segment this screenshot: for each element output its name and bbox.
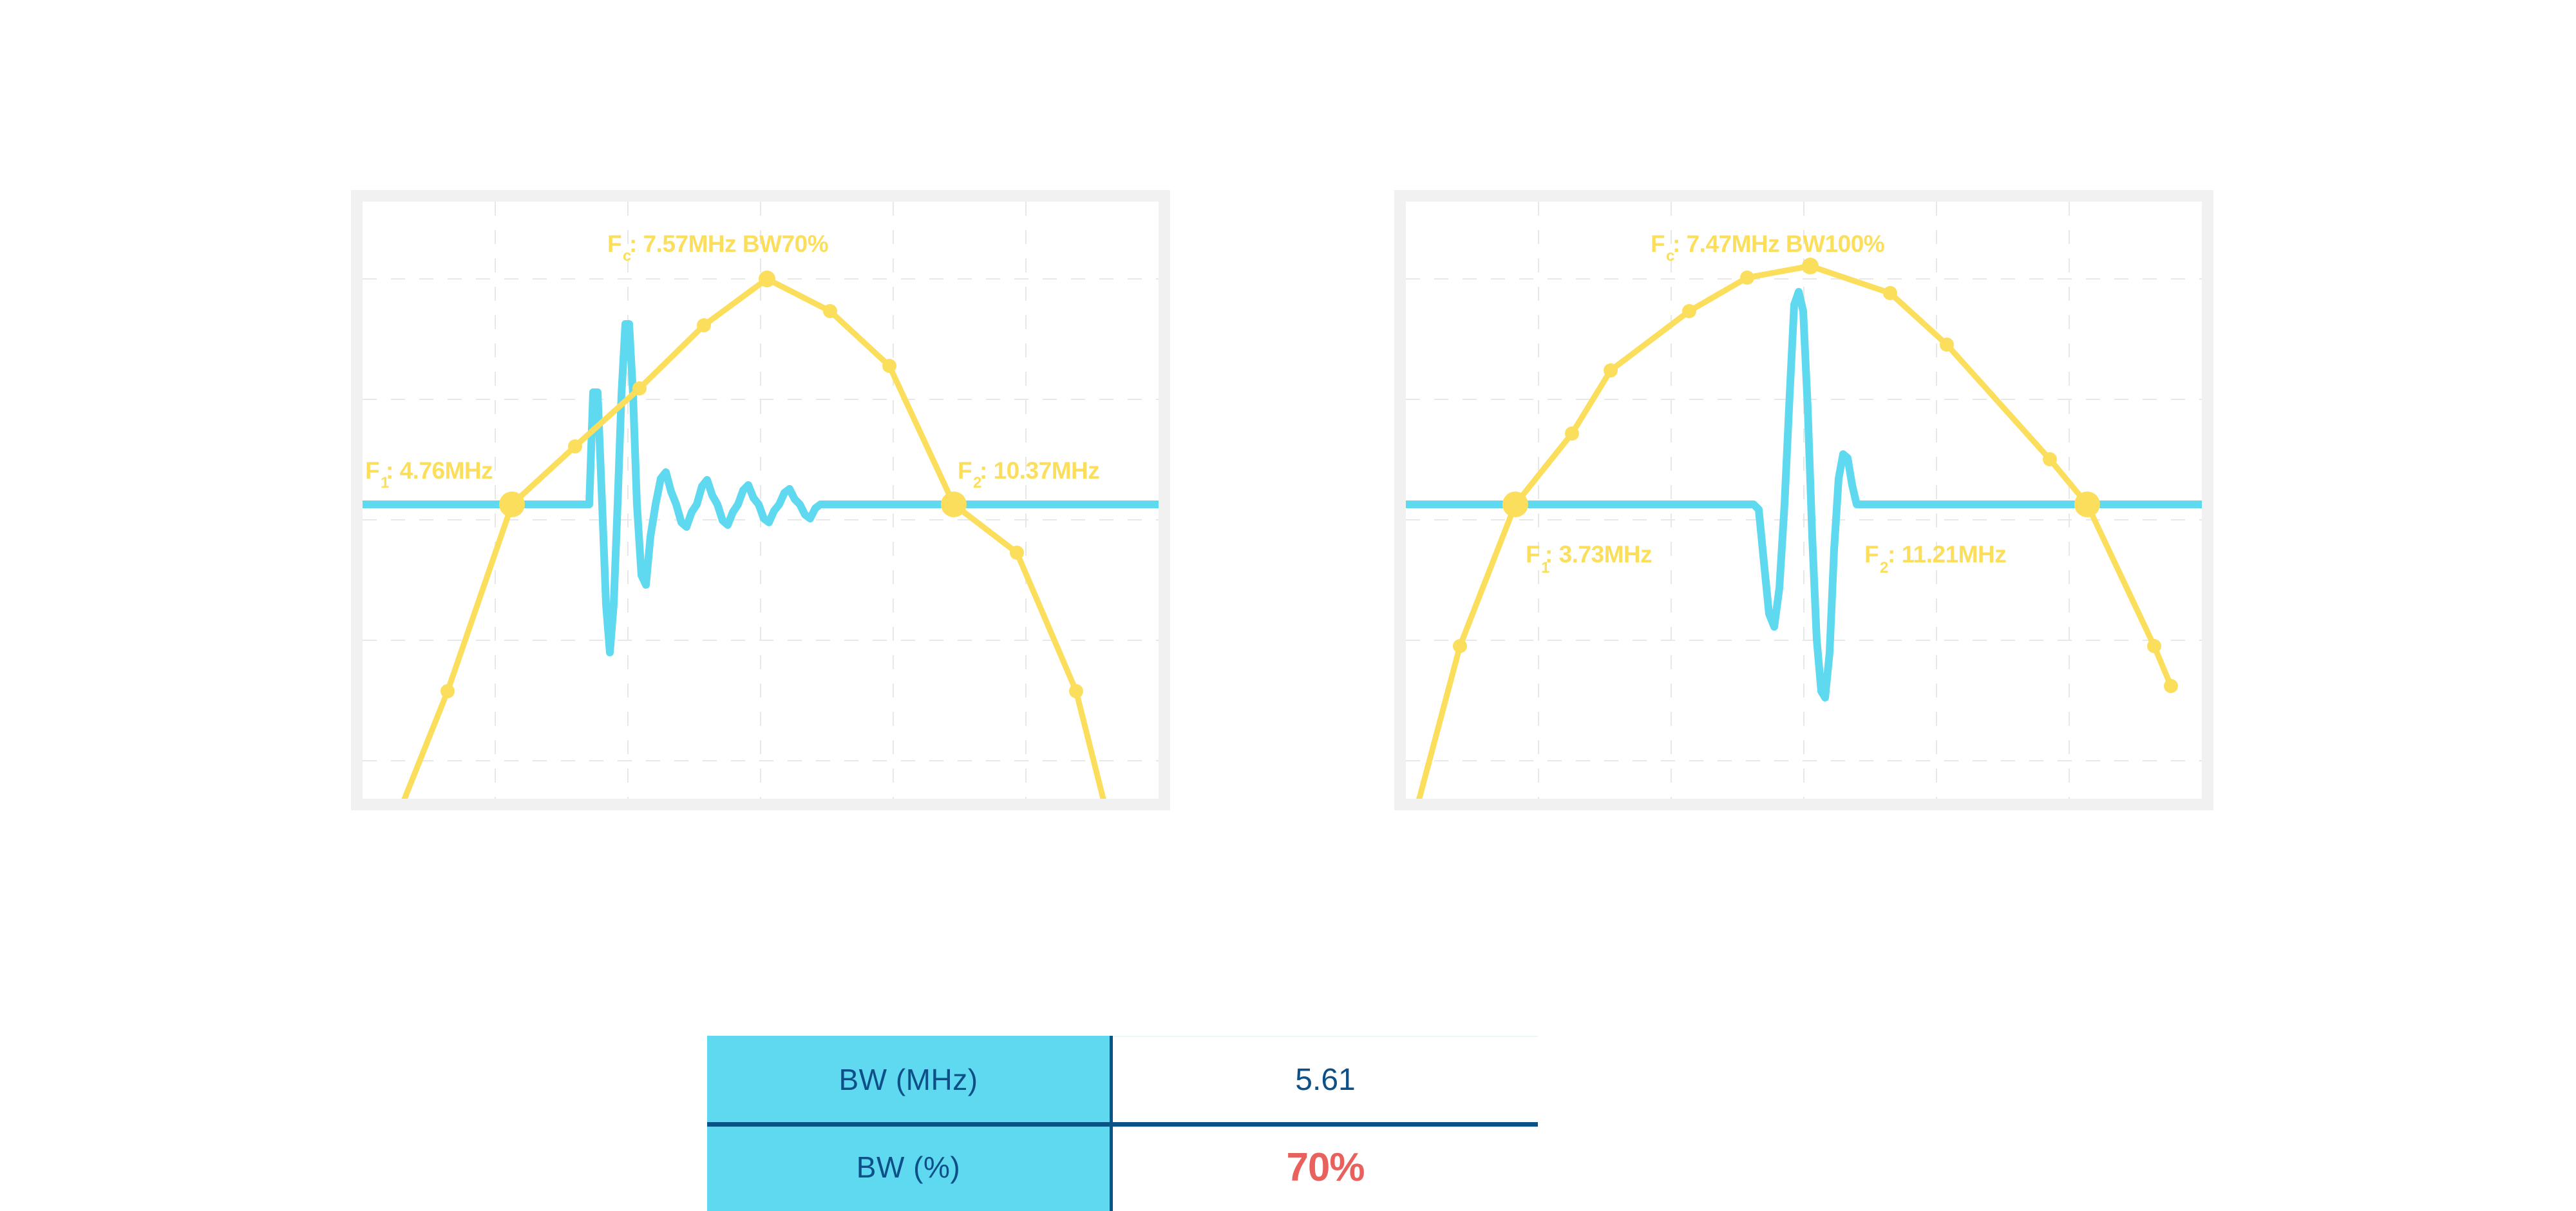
marker-f1 xyxy=(499,491,525,517)
panel-bw100: F c : 7.47MHz BW100% F 1 : 3.73MHz F 2 :… xyxy=(1394,190,2213,810)
table-divider xyxy=(707,1122,1538,1127)
marker-f2 xyxy=(941,491,967,517)
plot-area-bw100: F c : 7.47MHz BW100% F 1 : 3.73MHz F 2 :… xyxy=(1406,202,2202,799)
gridlines xyxy=(363,202,1159,799)
spectrum-point xyxy=(1940,338,1954,352)
spectrum-point xyxy=(1565,426,1579,441)
spectrum-point xyxy=(697,318,711,332)
spectrum-point xyxy=(1069,684,1083,698)
spectrum-plot-bw100: F c : 7.47MHz BW100% F 1 : 3.73MHz F 2 :… xyxy=(1406,202,2202,799)
annotation-f1-text: : 4.76MHz xyxy=(386,457,493,484)
annotation-fc-text: : 7.57MHz BW70% xyxy=(629,231,828,257)
spectrum-point-center xyxy=(759,271,775,287)
spectrum-point xyxy=(2043,452,2057,466)
spectrum-point xyxy=(632,381,647,396)
spectrum-point xyxy=(1682,304,1696,318)
annotation-fc-symbol: F xyxy=(607,231,621,257)
spectrum-trace-bw70 xyxy=(396,271,1103,799)
spectrum-point xyxy=(1010,546,1024,560)
spectrum-point xyxy=(882,359,896,373)
spectrum-point xyxy=(1453,639,1467,653)
annotation-lower-bw70: F 1 : 4.76MHz xyxy=(365,457,493,491)
annotation-fc-symbol: F xyxy=(1651,231,1665,257)
annotation-f1-symbol: F xyxy=(1526,541,1540,567)
panel-bw70: F c : 7.57MHz BW70% F 1 : 4.76MHz F 2 : … xyxy=(351,190,1170,810)
annotation-upper-bw100: F 2 : 11.21MHz xyxy=(1864,541,2006,577)
annotation-f2-symbol: F xyxy=(958,457,972,484)
spectrum-point xyxy=(2147,639,2161,653)
spectrum-point xyxy=(1740,271,1754,285)
spectrum-point xyxy=(823,304,837,318)
annotation-f2-symbol: F xyxy=(1864,541,1879,567)
spectrum-point-center xyxy=(1802,258,1819,274)
annotation-f2-text: : 11.21MHz xyxy=(1888,541,2006,567)
marker-f2 xyxy=(2074,491,2100,517)
spectrum-point xyxy=(2164,679,2178,693)
bw-table-bw70: BW (MHz) 5.61 BW (%) 70% xyxy=(707,1036,1538,1211)
bw-mhz-value: 5.61 xyxy=(1113,1036,1538,1123)
annotation-f2-text: : 10.37MHz xyxy=(980,457,1099,484)
spectrum-point xyxy=(440,684,455,698)
spectrum-plot-bw70: F c : 7.57MHz BW70% F 1 : 4.76MHz F 2 : … xyxy=(363,202,1159,799)
bw-percent-label: BW (%) xyxy=(707,1123,1113,1211)
annotation-center-bw100: F c : 7.47MHz BW100% xyxy=(1651,231,1884,265)
bw-mhz-label: BW (MHz) xyxy=(707,1036,1113,1123)
annotation-f1-text: : 3.73MHz xyxy=(1545,541,1652,567)
annotation-lower-bw100: F 1 : 3.73MHz xyxy=(1526,541,1652,577)
table-top-rule xyxy=(1113,1036,1538,1037)
table-row: BW (MHz) 5.61 xyxy=(707,1036,1538,1123)
spectrum-point xyxy=(1604,363,1618,377)
marker-f1 xyxy=(1502,491,1528,517)
plot-area-bw70: F c : 7.57MHz BW70% F 1 : 4.76MHz F 2 : … xyxy=(363,202,1159,799)
annotation-upper-bw70: F 2 : 10.37MHz xyxy=(958,457,1099,491)
spectrum-point xyxy=(568,439,582,453)
annotation-center-bw70: F c : 7.57MHz BW70% xyxy=(607,231,828,265)
plot-frame-bw70: F c : 7.57MHz BW70% F 1 : 4.76MHz F 2 : … xyxy=(351,190,1170,810)
plot-frame-bw100: F c : 7.47MHz BW100% F 1 : 3.73MHz F 2 :… xyxy=(1394,190,2213,810)
annotation-f1-symbol: F xyxy=(365,457,379,484)
table-row: BW (%) 70% xyxy=(707,1123,1538,1211)
bandwidth-comparison-figure: F c : 7.57MHz BW70% F 1 : 4.76MHz F 2 : … xyxy=(0,0,2576,1154)
spectrum-point xyxy=(1883,286,1897,300)
bw-percent-value: 70% xyxy=(1113,1123,1538,1211)
annotation-fc-text: : 7.47MHz BW100% xyxy=(1672,231,1884,257)
